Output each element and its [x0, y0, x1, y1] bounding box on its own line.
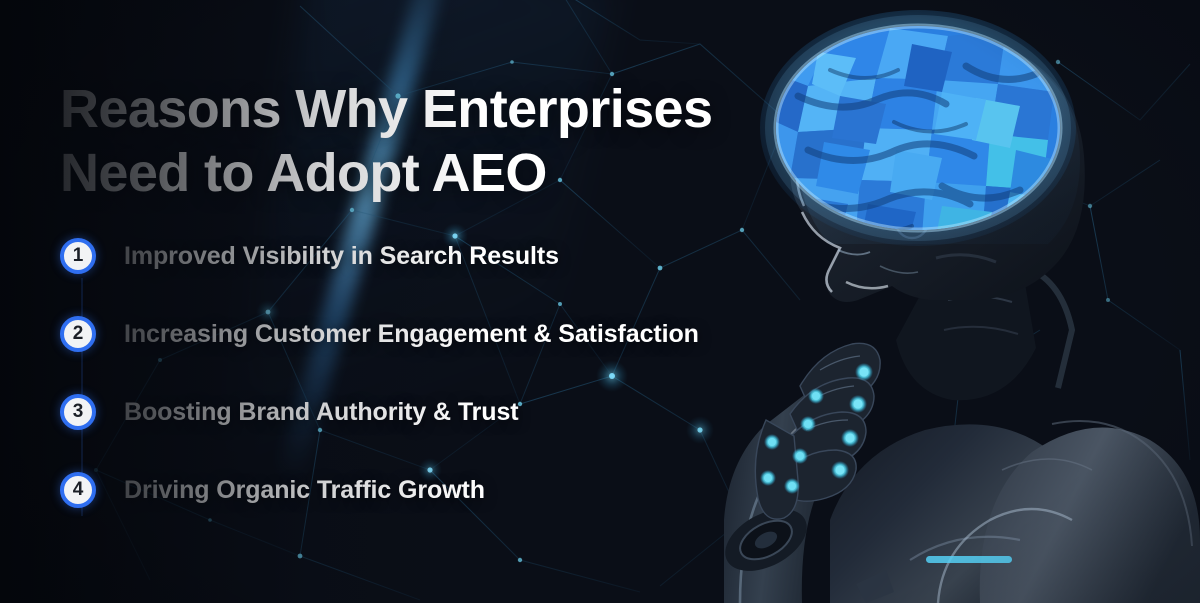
list-item-number: 2 — [73, 323, 84, 345]
list-item-number: 4 — [73, 479, 84, 501]
list-item-badge: 2 — [60, 316, 96, 352]
reasons-list: 1 Improved Visibility in Search Results … — [60, 238, 820, 550]
list-item-label: Driving Organic Traffic Growth — [124, 474, 485, 506]
list-item-badge: 3 — [60, 394, 96, 430]
list-item-number: 1 — [73, 245, 84, 267]
page-title: Reasons Why Enterprises Need to Adopt AE… — [60, 78, 760, 205]
list-item-badge: 1 — [60, 238, 96, 274]
list-item-label: Boosting Brand Authority & Trust — [124, 396, 518, 428]
list-item-badge: 4 — [60, 472, 96, 508]
list-item-label: Increasing Customer Engagement & Satisfa… — [124, 318, 699, 350]
list-item[interactable]: 2 Increasing Customer Engagement & Satis… — [60, 316, 820, 394]
list-item-label: Improved Visibility in Search Results — [124, 240, 559, 272]
list-item-number: 3 — [73, 401, 84, 423]
list-item[interactable]: 4 Driving Organic Traffic Growth — [60, 472, 820, 550]
content-layer: Reasons Why Enterprises Need to Adopt AE… — [0, 0, 1200, 603]
list-item[interactable]: 3 Boosting Brand Authority & Trust — [60, 394, 820, 472]
list-item[interactable]: 1 Improved Visibility in Search Results — [60, 238, 820, 316]
infographic-canvas: Reasons Why Enterprises Need to Adopt AE… — [0, 0, 1200, 603]
